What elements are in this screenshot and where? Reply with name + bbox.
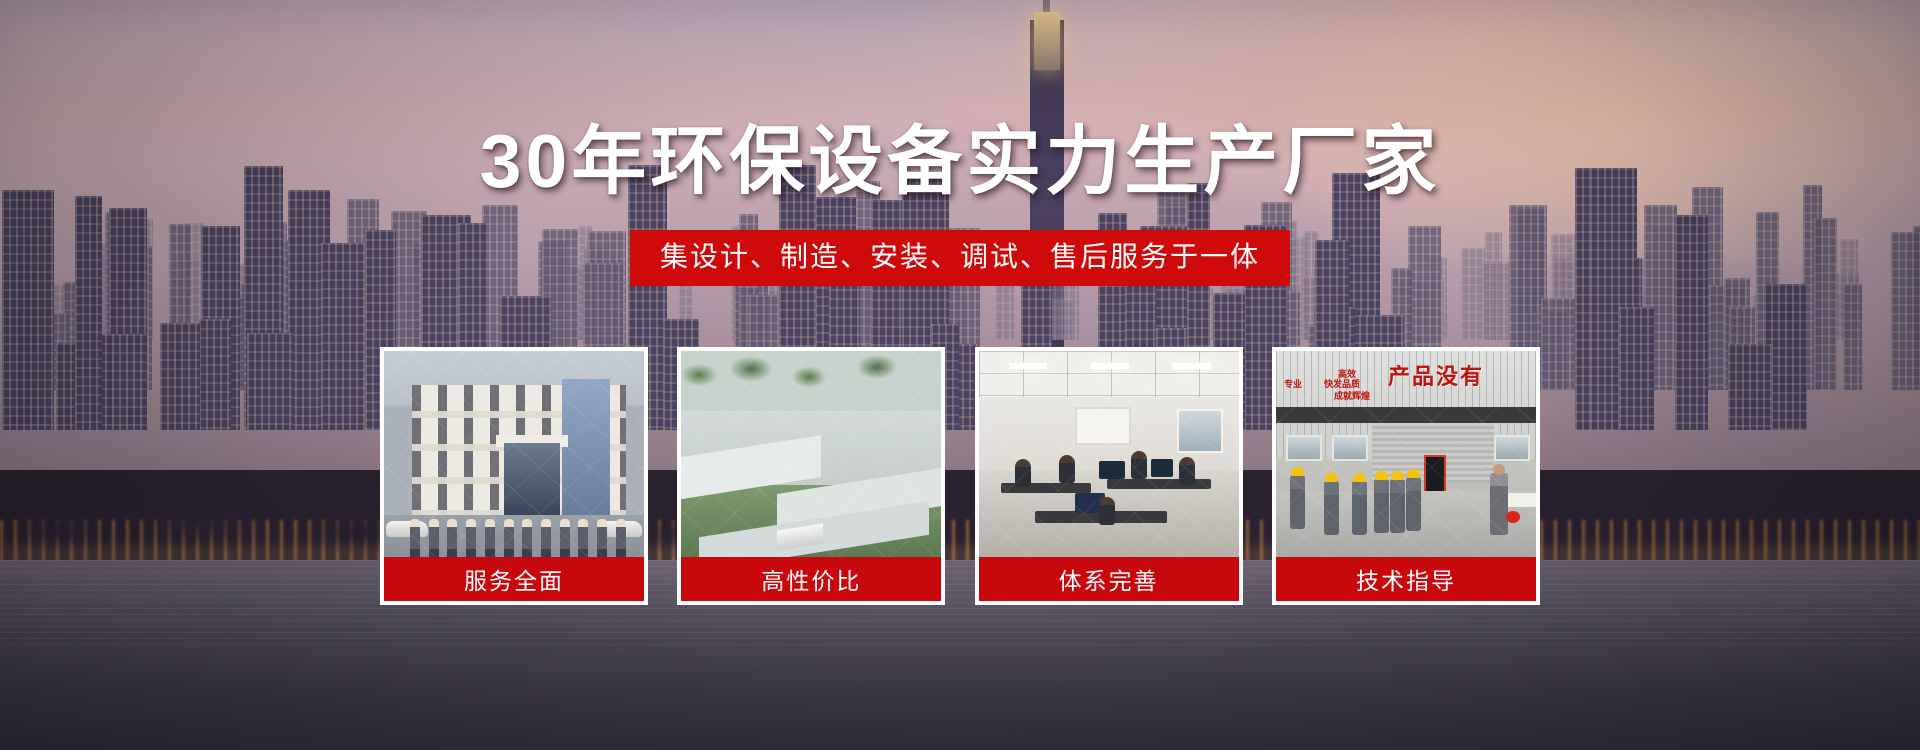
skyline-building <box>1728 344 1772 430</box>
desktop-monitor <box>1099 461 1125 479</box>
factory-slogan-b: 快发品质 <box>1324 379 1360 389</box>
factory-window <box>1286 435 1322 461</box>
card-label-3: 体系完善 <box>979 557 1239 601</box>
card-label-2: 高性价比 <box>681 557 941 601</box>
factory-worker <box>1352 481 1367 535</box>
ceiling-lamp <box>1091 363 1129 369</box>
office-window <box>1177 409 1223 453</box>
factory-worker <box>1374 479 1389 533</box>
office-worker <box>1059 455 1075 483</box>
skyline-building <box>98 334 146 430</box>
subtitle-row: 集设计、制造、安装、调试、售后服务于一体 <box>0 230 1920 286</box>
factory-worker <box>1290 475 1305 529</box>
factory-window <box>1332 435 1368 461</box>
factory-window <box>1494 435 1530 461</box>
page-title: 30年环保设备实力生产厂家 <box>0 124 1920 199</box>
factory-banner-text: 产品没有 <box>1388 359 1484 391</box>
office-worker <box>1179 457 1195 485</box>
feature-card-3[interactable]: 体系完善 <box>975 347 1243 605</box>
office-worker <box>1131 451 1147 479</box>
factory-worker <box>1390 479 1405 533</box>
office-ceiling <box>979 351 1239 397</box>
factory-worker <box>1406 477 1421 531</box>
red-helmet <box>1506 511 1520 523</box>
card-photo-office-interior <box>979 351 1239 557</box>
factory-slogan-d: 成就辉煌 <box>1334 391 1370 401</box>
building-glass-section <box>562 379 610 515</box>
staff-lineup <box>410 519 626 557</box>
plant-treeline <box>681 351 941 411</box>
building-entrance <box>504 443 560 515</box>
skyline-building <box>1619 307 1654 430</box>
office-worker <box>1099 497 1115 525</box>
ceiling-lamp <box>1173 363 1211 369</box>
ceiling-lamp <box>1009 363 1047 369</box>
skyline-building <box>1843 284 1862 390</box>
factory-wall-band <box>1276 407 1536 423</box>
card-label-4: 技术指导 <box>1276 557 1536 601</box>
office-whiteboard <box>1075 407 1131 445</box>
factory-door <box>1424 455 1446 495</box>
feature-card-2[interactable]: 高性价比 <box>677 347 945 605</box>
skyline-building <box>2 190 54 430</box>
hero-banner: 30年环保设备实力生产厂家 集设计、制造、安装、调试、售后服务于一体 服务全面 <box>0 0 1920 750</box>
card-photo-office-building <box>384 351 644 557</box>
desktop-monitor <box>1151 459 1173 477</box>
card-photo-factory-yard: 产品没有 专业 快发品质 高效 成就辉煌 <box>1276 351 1536 557</box>
feature-card-list: 服务全面 高性价比 <box>380 347 1540 607</box>
office-worker <box>1015 459 1031 487</box>
subtitle-badge: 集设计、制造、安装、调试、售后服务于一体 <box>630 230 1290 286</box>
card-photo-aerial-plant <box>681 351 941 557</box>
feature-card-1[interactable]: 服务全面 <box>380 347 648 605</box>
feature-card-4[interactable]: 产品没有 专业 快发品质 高效 成就辉煌 <box>1272 347 1540 605</box>
skyline-building <box>1541 298 1578 390</box>
office-desk <box>1107 479 1211 489</box>
card-label-1: 服务全面 <box>384 557 644 601</box>
factory-worker <box>1324 481 1339 535</box>
factory-slogan-a: 专业 <box>1284 379 1302 389</box>
factory-supervisor <box>1490 473 1508 535</box>
skyline-building <box>247 333 293 430</box>
factory-slogan-c: 高效 <box>1338 369 1356 379</box>
skyline-building <box>160 323 200 430</box>
skyline-building <box>199 319 231 430</box>
tower-crown-light <box>1034 12 1060 70</box>
